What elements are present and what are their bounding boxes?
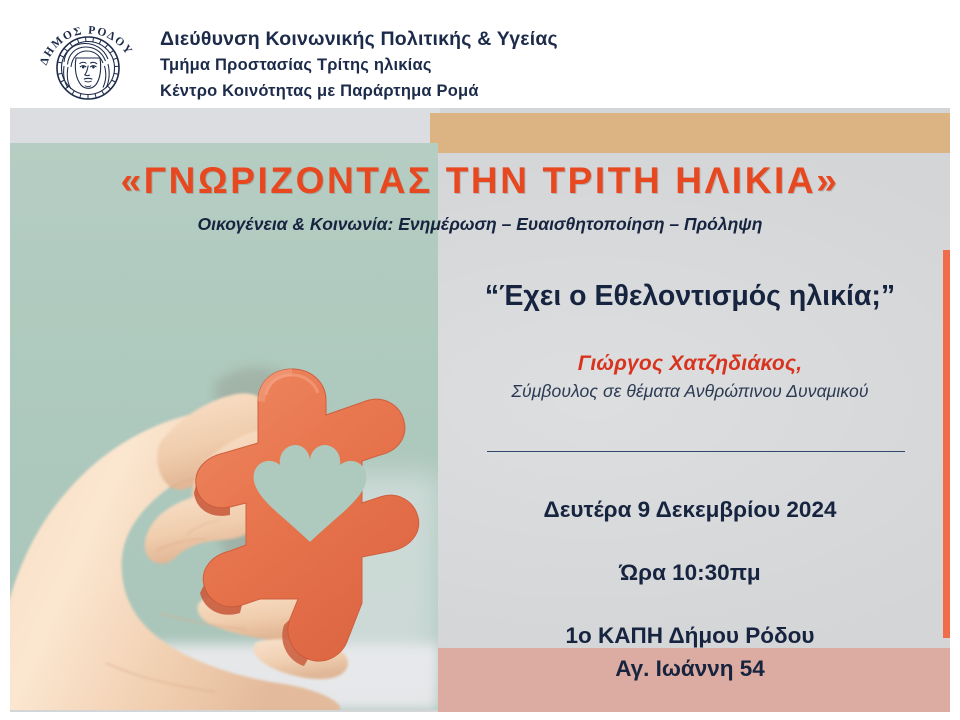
speaker-block: Γιώργος Χατζηδιάκος, Σύμβουλος σε θέματα… [440,352,940,402]
event-date: Δευτέρα 9 Δεκεμβρίου 2024 [440,497,940,523]
event-poster: ΔΗΜΟΣ ΡΟΔΟΥ [0,0,960,720]
speaker-name: Γιώργος Χατζηδιάκος, [440,352,940,376]
poster-details-column: “Έχει ο Εθελοντισμός ηλικία;” Γιώργος Χα… [440,108,950,712]
top-light-strip [10,108,440,144]
poster-body: «ΓΝΩΡΙΖΟΝΤΑΣ ΤΗΝ ΤΡΙΤΗ ΗΛΙΚΙΑ» Οικογένει… [0,108,960,720]
municipality-of-rhodes-logo-icon: ΔΗΜΟΣ ΡΟΔΟΥ [28,6,148,106]
header-line-direction: Διεύθυνση Κοινωνικής Πολιτικής & Υγείας [160,26,760,52]
horizontal-divider [487,451,905,452]
poster-quote: “Έχει ο Εθελοντισμός ηλικία;” [440,280,940,313]
header-line-department: Τμήμα Προστασίας Τρίτης ηλικίας [160,52,760,78]
event-time: Ώρα 10:30πμ [440,560,940,586]
header-line-center: Κέντρο Κοινότητας με Παράρτημα Ρομά [160,78,760,104]
header-department-lines: Διεύθυνση Κοινωνικής Πολιτικής & Υγείας … [160,26,760,104]
event-address: Αγ. Ιωάννη 54 [440,656,940,682]
speaker-role: Σύμβουλος σε θέματα Ανθρώπινου Δυναμικού [440,381,940,402]
poster-header: ΔΗΜΟΣ ΡΟΔΟΥ [0,0,960,108]
event-venue: 1ο ΚΑΠΗ Δήμου Ρόδου [440,623,940,649]
